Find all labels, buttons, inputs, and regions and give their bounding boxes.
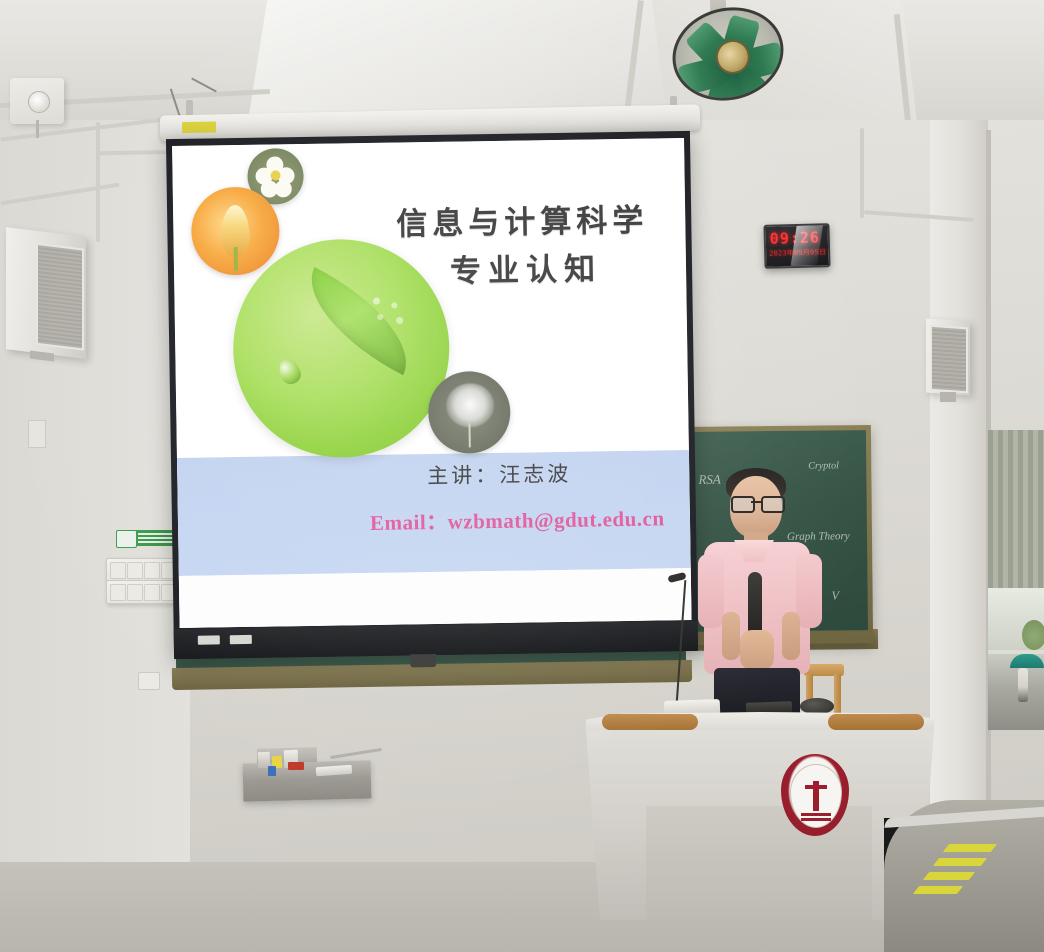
digital-clock: 09:26 2023年09月05日 <box>763 223 830 269</box>
lectern-wood-trim-left <box>602 714 698 730</box>
wall-conduit-2 <box>96 122 100 242</box>
light-switch-panel-top[interactable] <box>106 558 178 582</box>
projection-screen: 信息与计算科学 专业认知 主讲：汪志波 Email：wzbmath@gdut.e… <box>166 131 698 659</box>
slide-graphic-tulip <box>191 186 280 275</box>
ceiling-bay-left <box>248 0 688 122</box>
lectern <box>586 712 934 952</box>
wall-plate-left <box>28 420 46 448</box>
corridor-railing <box>988 650 1044 654</box>
speaker-bracket-right <box>940 392 956 402</box>
emblem-glyph-icon <box>805 781 827 811</box>
chalk-note-v: V <box>832 588 840 603</box>
roller-label <box>182 121 216 133</box>
presenter <box>690 462 830 722</box>
anti-slip-strip-4 <box>943 844 997 852</box>
glasses-icon <box>731 496 781 509</box>
slide-title-line2: 专业认知 <box>376 244 677 297</box>
dial-icon <box>28 91 50 113</box>
anti-slip-strip-2 <box>923 872 975 880</box>
lectern-wood-trim-right <box>828 714 924 730</box>
presenter-hands <box>740 630 774 670</box>
tree <box>1022 620 1044 650</box>
outdoor-view <box>988 588 1044 730</box>
slide-title: 信息与计算科学 专业认知 <box>369 196 676 297</box>
presenter-sleeve-right <box>796 554 822 628</box>
light-switch-panel-bottom[interactable] <box>106 580 178 604</box>
university-emblem <box>781 754 849 836</box>
wall-speaker-right <box>926 318 970 395</box>
umbrella <box>1010 654 1044 668</box>
person-outdoors <box>1018 668 1028 702</box>
presentation-slide: 信息与计算科学 专业认知 主讲：汪志波 Email：wzbmath@gdut.e… <box>172 138 692 628</box>
lecture-hall-photo: RSA Cryptol Graph Theory V 09:26 2023年09… <box>0 0 1044 952</box>
flower-core-icon <box>270 170 280 180</box>
safety-badge-icon <box>116 530 137 548</box>
clock-glare <box>791 223 824 269</box>
curtain <box>988 430 1044 590</box>
slide-title-line1: 信息与计算科学 <box>396 203 649 242</box>
slide-bottom-band <box>179 568 692 628</box>
wall-socket[interactable] <box>138 672 160 690</box>
computer-mouse[interactable] <box>800 698 834 714</box>
lectern-body <box>586 730 934 920</box>
slide-canvas: 信息与计算科学 专业认知 主讲：汪志波 Email：wzbmath@gdut.e… <box>172 138 692 628</box>
chalk-box-red <box>288 762 304 770</box>
corridor-opening <box>988 430 1044 730</box>
anti-slip-strip-1 <box>913 886 963 894</box>
presenter-sleeve-left <box>698 554 724 628</box>
chalk-box-blue <box>268 766 276 776</box>
anti-slip-strip-3 <box>933 858 987 866</box>
wall-control-unit[interactable] <box>10 78 64 124</box>
slide-email-line: Email：wzbmath@gdut.edu.cn <box>370 502 690 537</box>
presenter-arm-left <box>722 612 740 660</box>
presenter-arm-right <box>782 612 800 660</box>
screen-pull-tab[interactable] <box>410 654 436 667</box>
ac-pipe <box>36 120 39 138</box>
wall-speaker-left <box>6 227 86 359</box>
slide-graphic-dandelion <box>428 371 511 454</box>
slide-speaker-line: 主讲：汪志波 <box>427 456 677 490</box>
wall-conduit-5 <box>860 128 864 218</box>
